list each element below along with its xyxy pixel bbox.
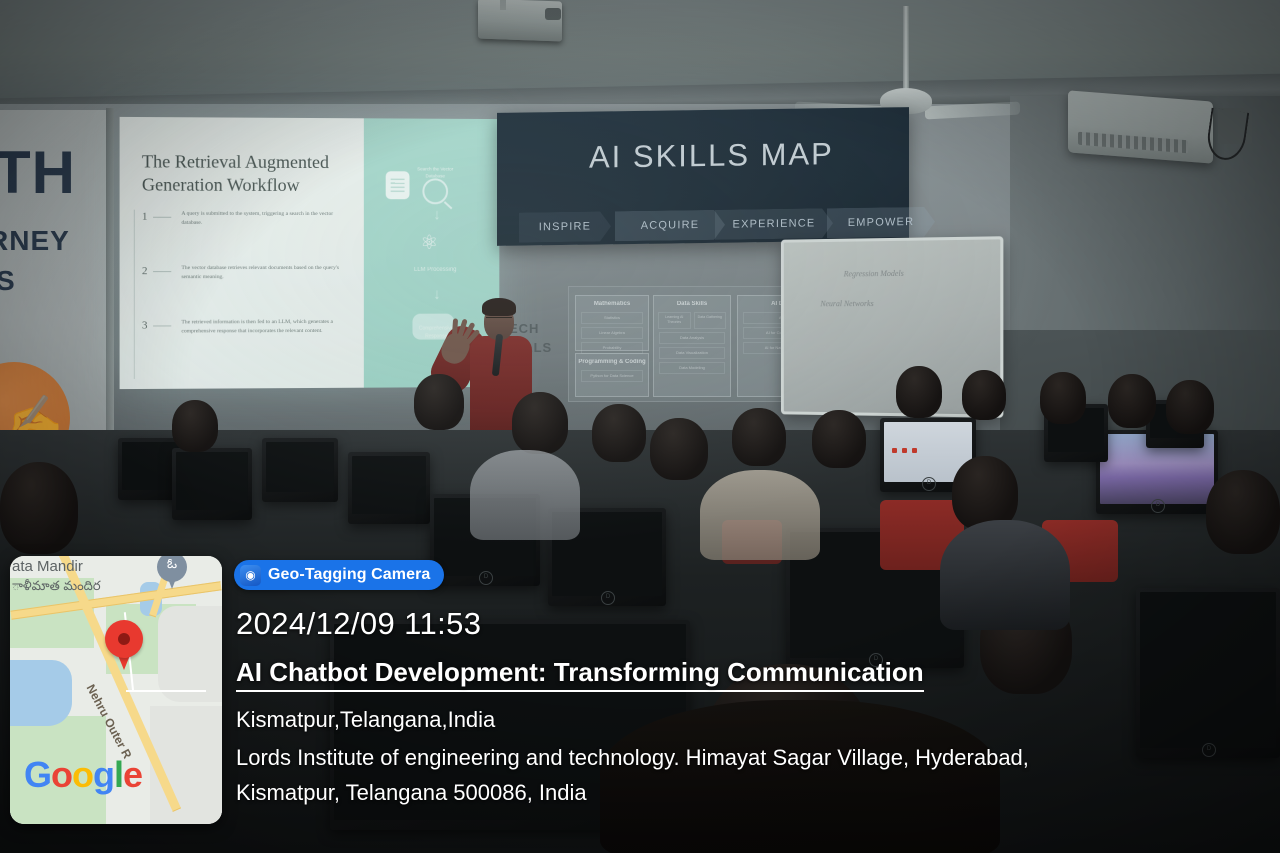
presenter-hair	[482, 298, 516, 316]
left-wall-banner: TH RNEY S ✍	[0, 110, 110, 460]
step-text: The retrieved information is then fed to…	[181, 318, 346, 337]
map-minor-road	[126, 690, 206, 692]
poster-panel-data-skills: Data Skills Learning AI Theories Data Ga…	[653, 295, 731, 397]
address-line-2: Kismatpur, Telangana 500086, India	[236, 780, 587, 806]
slide-steps: 1 A query is submitted to the system, tr…	[142, 211, 348, 374]
poster-panel-programming: Programming & Coding Python for Data Sci…	[575, 353, 649, 397]
geo-tagged-photo: TH RNEY S ✍ The Retrieval Augmented Gene…	[0, 0, 1280, 853]
poi-pin-tip	[167, 576, 177, 589]
glasses-icon	[486, 317, 512, 324]
temple-poi-icon: ఓ	[157, 556, 187, 590]
monitor: D	[1136, 588, 1280, 758]
step-dash	[153, 325, 171, 326]
student-head	[1108, 374, 1156, 428]
wall-column-edge	[106, 108, 114, 460]
google-letter-l: l	[114, 754, 123, 795]
student-shoulders	[940, 520, 1070, 630]
google-logo: Google	[24, 754, 142, 796]
student-head	[952, 456, 1018, 530]
presenter-hand	[437, 330, 474, 368]
ceiling-projector	[478, 0, 562, 41]
student-head	[512, 392, 568, 454]
slide-title: The Retrieval Augmented Generation Workf…	[142, 150, 333, 197]
student-head	[0, 462, 78, 554]
dell-logo-icon: D	[1151, 499, 1165, 513]
dell-logo-icon: D	[922, 477, 936, 491]
slide-step: 1 A query is submitted to the system, tr…	[142, 211, 348, 243]
student-head	[732, 408, 786, 466]
step-number: 3	[142, 319, 148, 331]
student-shoulders	[470, 450, 580, 540]
monitor-screen	[266, 442, 334, 492]
stage-acquire: ACQUIRE	[615, 210, 725, 242]
geo-tagging-camera-label: Geo-Tagging Camera	[268, 566, 430, 584]
address-line-1: Lords Institute of engineering and techn…	[236, 745, 1029, 771]
student-shoulders	[600, 700, 1000, 853]
panel-item: Linear Algebra	[581, 327, 643, 339]
camera-icon: ◉	[240, 565, 261, 586]
step-text: The vector database retrieves relevant d…	[181, 264, 346, 283]
whiteboard-text-line-2: Neural Networks	[820, 299, 873, 308]
poster-panel-mathematics: Mathematics Statistics Linear Algebra Pr…	[575, 295, 649, 351]
banner-line-2: RNEY	[0, 225, 70, 257]
google-letter-g2: g	[93, 754, 114, 795]
banner-line-3: S	[0, 265, 16, 297]
desktop-icon	[912, 448, 917, 453]
ai-skills-map-title: AI SKILLS MAP	[589, 136, 834, 175]
monitor	[348, 452, 430, 524]
database-icon	[385, 170, 411, 200]
pin-center-dot	[118, 633, 130, 645]
arrow-down-icon: ↓	[433, 206, 440, 223]
google-letter-e: e	[123, 754, 142, 795]
ai-skills-stages: INSPIRE ACQUIRE EXPERIENCE EMPOWER	[515, 207, 915, 243]
dell-logo-icon: D	[601, 591, 615, 605]
student-head	[172, 400, 218, 452]
student-head	[896, 366, 942, 418]
panel-item: Python for Data Science	[581, 370, 643, 382]
stage-inspire: INSPIRE	[519, 211, 611, 242]
student-head	[1166, 380, 1214, 434]
map-poi-label-telugu: ాళీమాత మందిర	[12, 578, 101, 597]
google-letter-o1: o	[51, 754, 72, 795]
monitor	[172, 448, 252, 520]
panel-heading: Mathematics	[576, 296, 648, 309]
geo-tagging-camera-badge[interactable]: ◉ Geo-Tagging Camera	[234, 560, 444, 590]
panel-item: Learning AI Theories	[658, 312, 691, 329]
banner-line-1: TH	[0, 138, 76, 207]
panel-item-row: Learning AI Theories Data Gathering	[658, 312, 726, 329]
map-poi-label: ata Mandir	[12, 558, 83, 575]
student-head	[592, 404, 646, 462]
student-head	[1206, 470, 1280, 554]
magnifier-icon	[422, 178, 448, 204]
air-conditioner	[1068, 90, 1213, 163]
monitor-screen	[352, 456, 426, 514]
step-number: 1	[142, 211, 148, 223]
poi-pin-glyph: ఓ	[157, 556, 187, 575]
stage-experience: EXPERIENCE	[715, 208, 833, 240]
projector-lens-icon	[545, 8, 561, 20]
place-name: Kismatpur,Telangana,India	[236, 707, 495, 733]
location-pin-icon	[105, 620, 143, 670]
dell-logo-icon: D	[1202, 743, 1216, 757]
step-dash	[153, 217, 171, 218]
panel-heading: Data Skills	[654, 296, 730, 309]
monitor	[262, 438, 338, 502]
student-head	[1040, 372, 1086, 424]
student-head	[414, 374, 464, 430]
google-letter-o2: o	[72, 754, 93, 795]
slide-step: 3 The retrieved information is then fed …	[142, 319, 348, 352]
diagram-model-label: LLM Processing	[412, 266, 457, 275]
student-shoulders	[700, 470, 820, 560]
skills-poster: Mathematics Statistics Linear Algebra Pr…	[568, 286, 814, 402]
panel-item: Data Analysis	[659, 332, 725, 344]
panel-heading: Programming & Coding	[576, 354, 648, 367]
desktop-icon	[892, 448, 897, 453]
map-thumbnail[interactable]: ata Mandir ాళీమాత మందిర ఓ Nehru Outer R …	[10, 556, 222, 824]
ceiling-fan-rod	[903, 6, 909, 92]
photo-title: AI Chatbot Development: Transforming Com…	[236, 657, 924, 692]
step-dash	[153, 271, 171, 272]
panel-item: Statistics	[581, 312, 643, 324]
panel-item: Data Visualization	[659, 347, 725, 359]
dell-logo-icon: D	[479, 571, 493, 585]
step-number: 2	[142, 265, 148, 277]
student-head	[812, 410, 866, 468]
desktop-icon	[902, 448, 907, 453]
projector-mount	[500, 0, 506, 10]
map-water	[10, 660, 72, 726]
ai-skills-map-banner: AI SKILLS MAP INSPIRE ACQUIRE EXPERIENCE…	[497, 107, 909, 246]
step-text: A query is submitted to the system, trig…	[181, 210, 346, 229]
stage-empower: EMPOWER	[827, 207, 935, 239]
brain-icon: ⚛	[420, 230, 438, 255]
slide-steps-rail	[134, 210, 135, 379]
map-builtup-area	[158, 606, 222, 702]
panel-item: Data Modeling	[659, 362, 725, 374]
student-head	[962, 370, 1006, 420]
student-head	[650, 418, 708, 480]
timestamp: 2024/12/09 11:53	[236, 606, 481, 642]
monitor-screen	[1140, 592, 1276, 748]
monitor-screen	[176, 452, 248, 510]
google-letter-g: G	[24, 754, 51, 795]
panel-item: Data Gathering	[694, 312, 727, 329]
slide-step: 2 The vector database retrieves relevant…	[142, 265, 348, 297]
whiteboard-text-line-1: Regression Models	[844, 269, 904, 279]
